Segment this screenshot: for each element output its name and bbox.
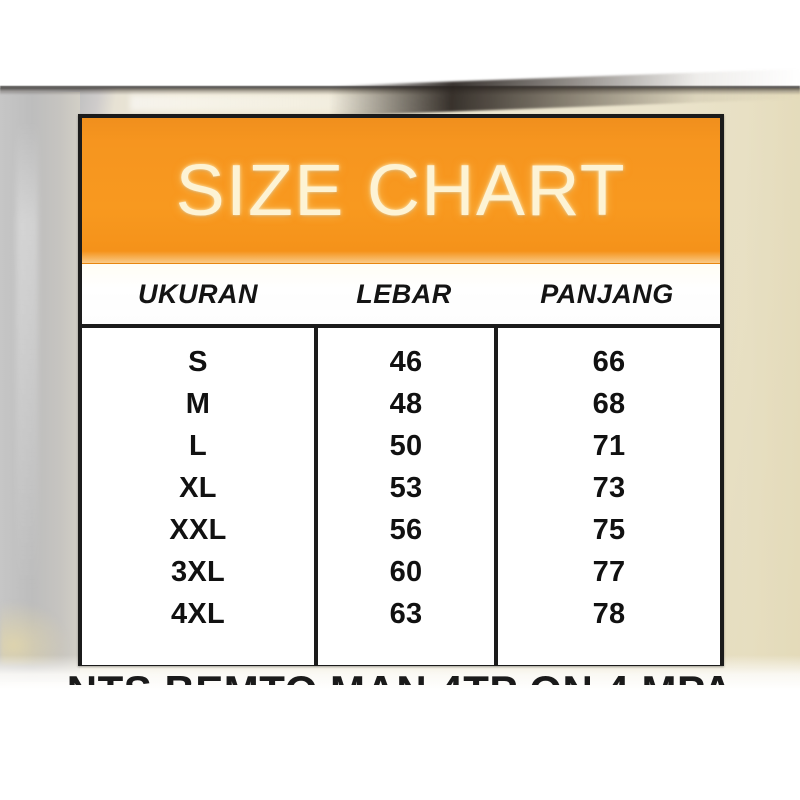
table-cell-panjang: 75 [498, 509, 720, 551]
table-cell-lebar: 53 [318, 467, 494, 509]
table-cell-ukuran: XXL [82, 509, 314, 551]
page-title: SIZE CHART [176, 155, 627, 227]
table-cell-ukuran: XL [82, 467, 314, 509]
table-cell-panjang: 78 [498, 593, 720, 635]
table-cell-ukuran: 3XL [82, 551, 314, 593]
column-ukuran: S M L XL XXL 3XL 4XL [82, 328, 314, 665]
clipped-caption-container: NTS BEMTO MAN 4TP ON 4 MPA [0, 672, 800, 685]
table-cell-panjang: 66 [498, 341, 720, 383]
column-header-panjang: PANJANG [494, 279, 720, 310]
table-cell-panjang: 71 [498, 425, 720, 467]
clipped-caption-text: NTS BEMTO MAN 4TP ON 4 MPA [0, 672, 800, 685]
table-body: S M L XL XXL 3XL 4XL 46 48 50 53 56 60 6… [82, 328, 720, 665]
table-cell-panjang: 77 [498, 551, 720, 593]
title-banner: SIZE CHART [82, 118, 720, 264]
column-panjang: 66 68 71 73 75 77 78 [494, 328, 720, 665]
photo-background-left-panel [0, 92, 80, 682]
photo-background-left-highlight [16, 120, 38, 590]
table-cell-ukuran: S [82, 341, 314, 383]
table-cell-ukuran: L [82, 425, 314, 467]
table-cell-ukuran: 4XL [82, 593, 314, 635]
column-header-lebar: LEBAR [314, 279, 494, 310]
table-cell-panjang: 73 [498, 467, 720, 509]
table-cell-lebar: 60 [318, 551, 494, 593]
table-cell-panjang: 68 [498, 383, 720, 425]
size-chart-card: SIZE CHART UKURAN LEBAR PANJANG S M L XL… [78, 114, 724, 666]
table-cell-lebar: 50 [318, 425, 494, 467]
size-chart-image: SIZE CHART UKURAN LEBAR PANJANG S M L XL… [0, 0, 800, 800]
table-cell-lebar: 48 [318, 383, 494, 425]
column-lebar: 46 48 50 53 56 60 63 [314, 328, 494, 665]
column-header-ukuran: UKURAN [82, 279, 314, 310]
table-cell-lebar: 63 [318, 593, 494, 635]
table-cell-lebar: 56 [318, 509, 494, 551]
table-cell-ukuran: M [82, 383, 314, 425]
table-cell-lebar: 46 [318, 341, 494, 383]
table-header-row: UKURAN LEBAR PANJANG [82, 264, 720, 328]
